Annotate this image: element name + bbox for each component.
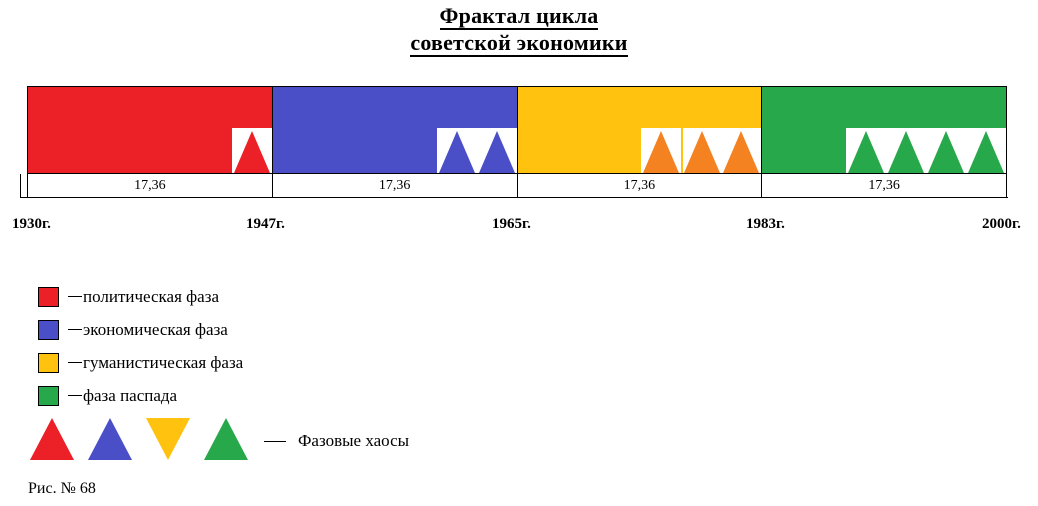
chaos-triangle-icon xyxy=(479,131,515,173)
chaos-legend: Фазовые хаосы xyxy=(30,414,409,460)
phase-segment-3[interactable] xyxy=(517,87,762,173)
year-label-1983: 1983г. xyxy=(746,216,785,233)
legend-label: политическая фаза xyxy=(83,287,219,307)
chaos-cell xyxy=(966,128,1006,173)
chaos-triangle-icon xyxy=(928,131,964,173)
legend-dash xyxy=(68,362,82,363)
chaos-cell xyxy=(477,128,517,173)
legend-item-1[interactable]: политическая фаза xyxy=(38,280,538,313)
chaos-triangle-icon xyxy=(234,131,270,173)
timeline-value-row: 17,3617,3617,3617,36 xyxy=(27,174,1007,197)
legend-label: фаза паспада xyxy=(83,386,177,406)
fractal-cycle-chart: 17,3617,3617,3617,36 xyxy=(20,86,1008,202)
title-line-1: Фрактал цикла xyxy=(0,2,1038,29)
figure-caption: Рис. № 68 xyxy=(28,480,96,498)
axis-tick-left xyxy=(20,174,21,197)
axis-tick-right xyxy=(1006,174,1007,197)
phase-segment-4[interactable] xyxy=(761,87,1006,173)
chaos-cell xyxy=(846,128,886,173)
legend-color-swatch xyxy=(38,386,59,406)
segment-value-3: 17,36 xyxy=(517,174,762,197)
chaos-band xyxy=(641,128,761,173)
chaos-band xyxy=(437,128,517,173)
chaos-legend-label: Фазовые хаосы xyxy=(298,431,409,451)
chaos-cell xyxy=(926,128,966,173)
year-label-1965: 1965г. xyxy=(492,216,531,233)
phase-segment-2[interactable] xyxy=(272,87,517,173)
chaos-cell xyxy=(721,128,761,173)
legend-color-swatch xyxy=(38,287,59,307)
chaos-cell xyxy=(886,128,926,173)
chaos-triangle-icon xyxy=(684,131,720,173)
chaos-triangle-icon xyxy=(723,131,759,173)
segment-value-4: 17,36 xyxy=(761,174,1006,197)
year-label-1930: 1930г. xyxy=(12,216,51,233)
legend-label: экономическая фаза xyxy=(83,320,228,340)
segment-value-2: 17,36 xyxy=(272,174,517,197)
axis-baseline xyxy=(20,197,1008,198)
timeline-bar-strip xyxy=(27,86,1007,174)
segment-value-1: 17,36 xyxy=(28,174,272,197)
chaos-legend-triangle-down-icon xyxy=(146,418,190,460)
legend-color-swatch xyxy=(38,320,59,340)
legend-dash xyxy=(68,296,82,297)
legend-label: гуманистическая фаза xyxy=(83,353,243,373)
axis-year-labels: 1930г.1947г.1965г.1983г.2000г. xyxy=(0,216,1038,238)
chaos-cell xyxy=(232,128,272,173)
chaos-legend-triangle-up-icon xyxy=(30,418,74,460)
chaos-legend-dash xyxy=(264,441,286,442)
chaos-band xyxy=(232,128,272,173)
year-label-2000: 2000г. xyxy=(982,216,1021,233)
chaos-cell xyxy=(641,128,681,173)
chaos-triangle-icon xyxy=(439,131,475,173)
legend-dash xyxy=(68,395,82,396)
legend-dash xyxy=(68,329,82,330)
year-label-1947: 1947г. xyxy=(246,216,285,233)
legend-color-swatch xyxy=(38,353,59,373)
phase-segment-1[interactable] xyxy=(28,87,272,173)
page-title: Фрактал цикла советской экономики xyxy=(0,2,1038,56)
chaos-legend-triangle-up-icon xyxy=(204,418,248,460)
chaos-triangle-icon xyxy=(888,131,924,173)
legend-item-2[interactable]: экономическая фаза xyxy=(38,313,538,346)
chaos-triangle-icon xyxy=(968,131,1004,173)
chaos-triangle-icon xyxy=(643,131,679,173)
legend-item-4[interactable]: фаза паспада xyxy=(38,379,538,412)
phase-legend: политическая фазаэкономическая фазагуман… xyxy=(38,280,538,412)
chaos-legend-triangle-up-icon xyxy=(88,418,132,460)
chaos-cell xyxy=(437,128,477,173)
chaos-cell xyxy=(681,128,721,173)
chaos-triangle-icon xyxy=(848,131,884,173)
chaos-band xyxy=(846,128,1006,173)
title-line-2: советской экономики xyxy=(0,29,1038,56)
legend-item-3[interactable]: гуманистическая фаза xyxy=(38,346,538,379)
